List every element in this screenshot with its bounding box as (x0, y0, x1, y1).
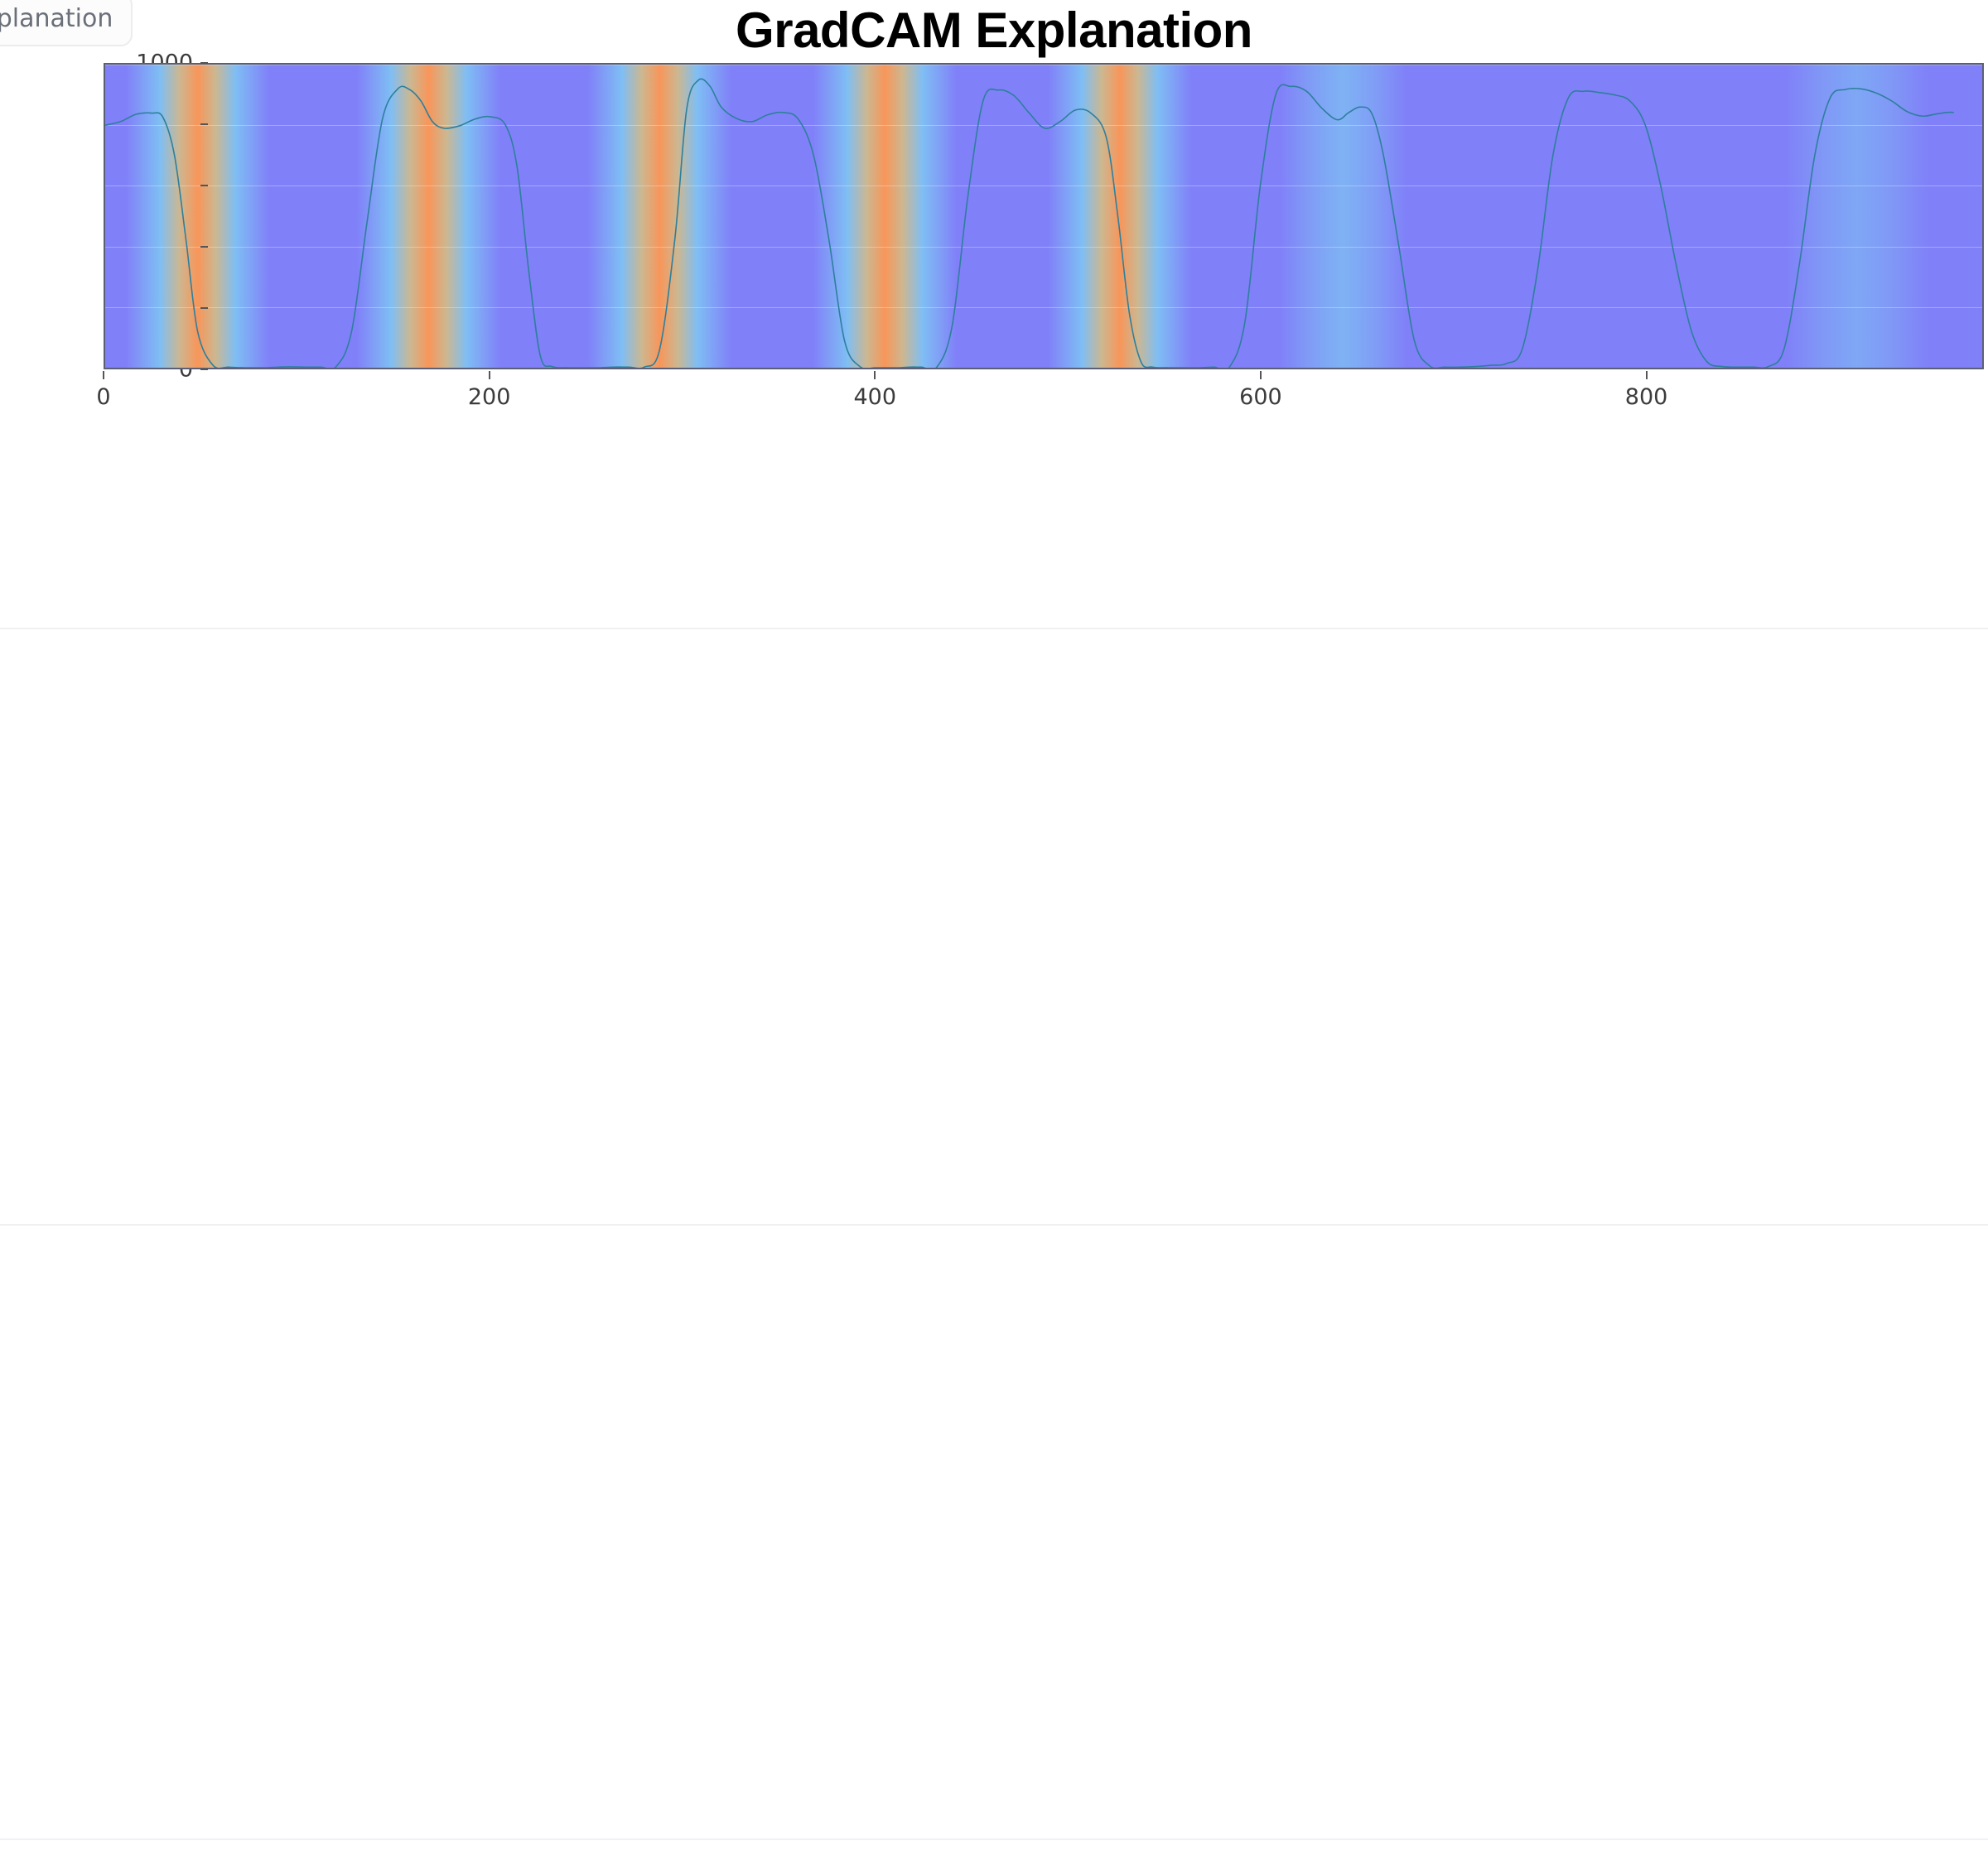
y-tick-mark (200, 185, 208, 186)
x-tick-mark (489, 371, 490, 379)
x-tick-mark (1260, 371, 1262, 379)
x-tick-label: 800 (1625, 384, 1668, 410)
x-tick-label: 0 (96, 384, 110, 410)
y-tick-mark (200, 246, 208, 248)
plot-area-gradcam (104, 63, 1984, 369)
x-tick-label: 400 (854, 384, 897, 410)
signal-path (105, 79, 1953, 368)
x-tick-label: 200 (468, 384, 511, 410)
x-tick-label: 600 (1239, 384, 1282, 410)
y-tick-mark (200, 123, 208, 125)
y-tick-mark (200, 369, 208, 370)
x-tick-mark (874, 371, 876, 379)
axes-gradcam: Signal Amplitude 02004006008001000 02004… (104, 63, 1984, 369)
x-tick-mark (1646, 371, 1648, 379)
bottom-rule (0, 1838, 1988, 1840)
screenshot-root: xplanation GradCAM Explanation Signal Am… (0, 0, 1988, 1860)
panel-lrp-explanation: ation LRP Explanation Signal Amplitude 0… (0, 629, 1988, 1226)
y-tick-mark (200, 307, 208, 309)
y-tick-mark (200, 62, 208, 64)
grid-line-h (105, 368, 1982, 369)
plot-wrapper-gradcam: Signal Amplitude 02004006008001000 02004… (0, 50, 1988, 629)
x-tick-mark (103, 371, 104, 379)
panel-gradcam-explanation: xplanation GradCAM Explanation Signal Am… (0, 0, 1988, 629)
panel-raw-signal: y Analysis Raw Signal with High-Discrepa… (0, 1226, 1988, 1860)
signal-line-gradcam (105, 65, 1982, 368)
